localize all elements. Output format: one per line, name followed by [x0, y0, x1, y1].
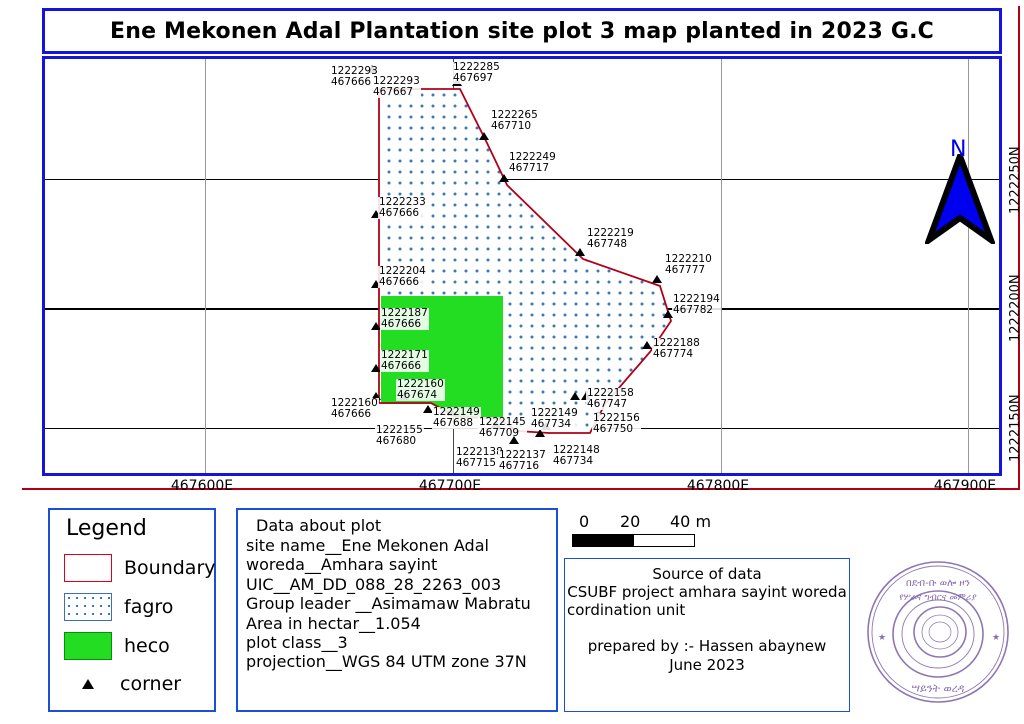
north-arrow-icon [925, 154, 995, 244]
plot-data-row: plot class__3 [246, 633, 550, 652]
corner-coordinate-label: 1222194467782 [672, 294, 721, 316]
plot-data-row: Area in hectar__1.054 [246, 614, 550, 633]
corner-coordinate-label: 1222204467666 [378, 266, 427, 288]
corner-easting: 467782 [673, 305, 720, 316]
corner-easting: 467680 [376, 436, 423, 447]
north-label: N [950, 137, 966, 162]
svg-text:የሦራና ግብርና መምሪያ: የሦራና ግብርና መምሪያ [899, 593, 977, 603]
scale-tick-label: 20 [620, 512, 640, 531]
corner-easting: 467688 [433, 418, 480, 429]
legend-item-fagro: fagro [64, 593, 173, 621]
corner-coordinate-label: 1222249467717 [508, 152, 557, 174]
corner-easting: 467666 [381, 319, 428, 330]
plot-data-row: site name__Ene Mekonen Adal [246, 536, 550, 555]
source-line: cordination unit [567, 601, 849, 619]
corner-easting: 467717 [509, 163, 556, 174]
source-box: Source of data CSUBF project amhara sayi… [564, 558, 850, 712]
prepared-date: June 2023 [565, 656, 849, 675]
y-axis-tick-label: 1222150N [1008, 394, 1023, 462]
corner-easting: 467674 [397, 390, 444, 401]
page-title: Ene Mekonen Adal Plantation site plot 3 … [110, 19, 934, 44]
corner-coordinate-label: 1222160467674 [396, 379, 445, 401]
corner-marker-icon [642, 341, 652, 349]
corner-easting: 467666 [331, 77, 378, 88]
corner-marker-icon [570, 392, 580, 400]
scale-bar-graphic [572, 534, 695, 547]
legend-title: Legend [66, 516, 147, 541]
svg-text:★: ★ [992, 633, 1000, 643]
source-line: CSUBF project amhara sayint woreda [565, 583, 849, 601]
corner-coordinate-label: 1222156467750 [592, 413, 641, 435]
corner-marker-icon [479, 132, 489, 140]
y-axis-tick-label: 1222250N [1008, 146, 1023, 214]
official-stamp-seal: በደብ-ቡ ወሎ ዞን የሦራና ግብርና መምሪያ ሣይንት ወረዳ ★ ★ [862, 556, 1014, 708]
plot-data-row: UIC__AM_DD_088_28_2263_003 [246, 575, 550, 594]
map-frame[interactable]: 1222293467666122229346766712222854676971… [42, 56, 1002, 476]
corner-coordinate-label: 1222265467710 [490, 110, 539, 132]
corner-triangle-icon [82, 679, 94, 689]
y-axis-tick-label: 1222200N [1008, 274, 1023, 342]
corner-easting: 467697 [453, 73, 500, 84]
legend-item-heco: heco [64, 632, 170, 660]
corner-easting: 467666 [381, 361, 428, 372]
x-axis-tick-label: 467700E [390, 478, 510, 494]
fagro-swatch-icon [64, 593, 112, 621]
corner-coordinate-label: 1222285467697 [452, 62, 501, 84]
scale-segment-dark [573, 535, 634, 546]
plot-data-box: Data about plot site name__Ene Mekonen A… [236, 508, 558, 712]
corner-easting: 467715 [456, 458, 503, 469]
prepared-by: prepared by :- Hassen abaynew [565, 637, 849, 656]
legend-item-corner: corner [64, 673, 181, 695]
corner-marker-icon [575, 248, 585, 256]
map-title-box: Ene Mekonen Adal Plantation site plot 3 … [42, 8, 1002, 54]
legend-item-label: heco [124, 635, 170, 657]
corner-coordinate-label: 1222148467734 [552, 445, 601, 467]
corner-easting: 467716 [499, 461, 546, 472]
corner-coordinate-label: 1222210467777 [664, 254, 713, 276]
x-axis-tick-label: 467900E [905, 478, 1024, 494]
corner-coordinate-label: 1222171467666 [380, 350, 429, 372]
x-axis-tick-label: 467600E [142, 478, 262, 494]
corner-coordinate-label: 1222160467666 [330, 398, 379, 420]
corner-coordinate-label: 1222149467688 [432, 407, 481, 429]
corner-easting: 467710 [491, 121, 538, 132]
source-title: Source of data [565, 565, 849, 583]
corner-easting: 467777 [665, 265, 712, 276]
corner-coordinate-label: 1222138467715 [455, 447, 504, 469]
svg-text:ሣይንት ወረዳ: ሣይንት ወረዳ [912, 682, 965, 695]
corner-coordinate-label: 1222188467774 [652, 338, 701, 360]
corner-coordinate-label: 1222293467667 [372, 76, 421, 98]
boundary-swatch-icon [64, 554, 112, 582]
corner-coordinate-label: 1222149467734 [530, 408, 579, 430]
scale-segment-light [634, 535, 695, 546]
corner-marker-icon [652, 275, 662, 283]
legend-item-label: fagro [124, 596, 173, 618]
scale-tick-label: 40 m [670, 512, 711, 531]
corner-coordinate-label: 1222137467716 [498, 450, 547, 472]
legend-item-label: corner [120, 673, 181, 695]
legend-item-boundary: Boundary [64, 554, 216, 582]
corner-easting: 467734 [531, 419, 578, 430]
corner-easting: 467667 [373, 87, 420, 98]
x-axis-tick-label: 467800E [658, 478, 778, 494]
heco-swatch-icon [64, 632, 112, 660]
corner-marker-icon [499, 174, 509, 182]
corner-easting: 467666 [331, 409, 378, 420]
corner-easting: 467747 [587, 399, 634, 410]
corner-coordinate-label: 1222158467747 [586, 388, 635, 410]
legend-item-label: Boundary [124, 557, 216, 579]
plot-data-row: woreda__Amhara sayint [246, 555, 550, 574]
scale-tick-label: 0 [579, 512, 589, 531]
corner-easting: 467750 [593, 424, 640, 435]
corner-coordinate-label: 1222155467680 [375, 425, 424, 447]
corner-coordinate-label: 1222145467709 [478, 417, 527, 439]
svg-text:በደብ-ቡ ወሎ ዞን: በደብ-ቡ ወሎ ዞን [906, 578, 970, 589]
plot-data-row: projection__WGS 84 UTM zone 37N [246, 652, 550, 671]
corner-easting: 467666 [379, 277, 426, 288]
corner-easting: 467734 [553, 456, 600, 467]
plot-data-row: Group leader __Asimamaw Mabratu [246, 594, 550, 613]
plot-data-heading: Data about plot [256, 516, 550, 535]
corner-easting: 467666 [379, 208, 426, 219]
legend-box: Legend Boundary fagro heco corner [48, 508, 216, 712]
corner-marker-icon [509, 436, 519, 444]
svg-text:★: ★ [878, 633, 886, 643]
corner-coordinate-label: 1222233467666 [378, 197, 427, 219]
scale-bar-ticks: 0 20 40 m [572, 512, 737, 534]
corner-easting: 467774 [653, 349, 700, 360]
corner-coordinate-label: 1222187467666 [380, 308, 429, 330]
scale-bar: 0 20 40 m [572, 512, 737, 547]
map-canvas[interactable]: 1222293467666122229346766712222854676971… [45, 59, 999, 473]
corner-marker-icon [535, 429, 545, 437]
corner-easting: 467748 [587, 239, 634, 250]
corner-coordinate-label: 1222219467748 [586, 228, 635, 250]
